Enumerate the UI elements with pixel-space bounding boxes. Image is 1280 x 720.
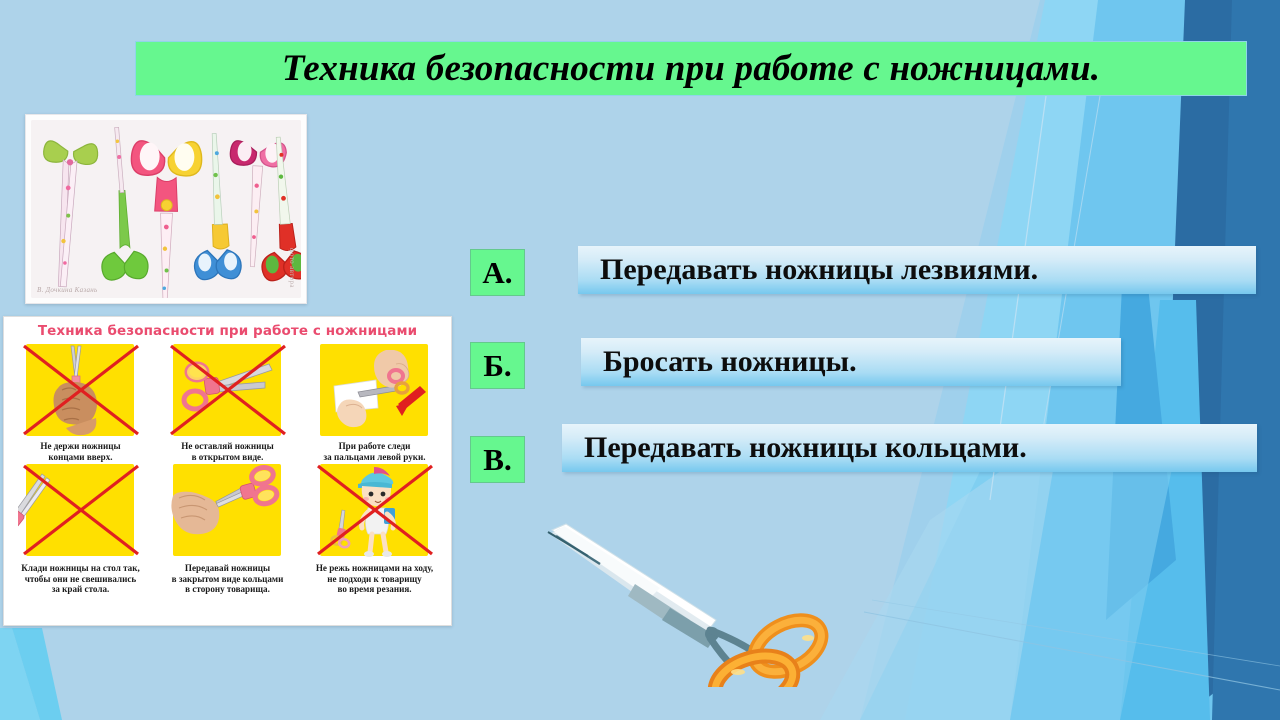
photo-watermark: В. Дочкина Казань xyxy=(37,286,98,294)
answer-option-b-text: Бросать ножницы. xyxy=(581,347,857,377)
poster-caption-1: Не держи ножницыконцами вверх. xyxy=(40,441,120,462)
answer-option-c[interactable]: Передавать ножницы кольцами. xyxy=(562,424,1257,472)
scissors-on-table-edge-icon xyxy=(18,462,144,560)
answer-option-a[interactable]: Передавать ножницы лезвиями. xyxy=(578,246,1256,294)
poster-caption-4: Клади ножницы на стол так,чтобы они не с… xyxy=(21,563,140,595)
page-title: Техника безопасности при работе с ножниц… xyxy=(282,50,1100,87)
hand-holding-scissors-up-icon xyxy=(18,342,144,440)
slide-canvas: Техника безопасности при работе с ножниц… xyxy=(0,0,1280,720)
poster-tile-2: Не оставляй ножницыв открытом виде. xyxy=(156,342,299,462)
poster-tile-5: Передавай ножницыв закрытом виде кольцам… xyxy=(156,462,299,595)
poster-tile-3: При работе следиза пальцами левой руки. xyxy=(303,342,446,462)
answer-option-b[interactable]: Бросать ножницы. xyxy=(581,338,1121,386)
answer-letter-c-label: В. xyxy=(483,444,511,475)
poster-caption-2: Не оставляй ножницыв открытом виде. xyxy=(181,441,273,462)
answer-letter-b-label: Б. xyxy=(483,350,511,381)
scissors-photo-illustration xyxy=(31,120,301,298)
cutting-paper-fingers-icon xyxy=(312,342,438,440)
slide-title-box: Техника безопасности при работе с ножниц… xyxy=(135,41,1247,96)
poster-row-bottom: Клади ножницы на стол так,чтобы они не с… xyxy=(4,462,451,595)
poster-row-top: Не держи ножницыконцами вверх. xyxy=(4,342,451,462)
open-scissors-icon xyxy=(165,342,291,440)
passing-scissors-rings-icon xyxy=(165,462,291,560)
answer-letter-a[interactable]: А. xyxy=(470,249,525,296)
poster-tile-6: Не режь ножницами на ходу,не подходи к т… xyxy=(303,462,446,595)
poster-tile-1: Не держи ножницыконцами вверх. xyxy=(9,342,152,462)
answer-option-a-text: Передавать ножницы лезвиями. xyxy=(578,255,1038,285)
answer-letter-c[interactable]: В. xyxy=(470,436,525,483)
scissors-photo-card: В. Дочкина Казань фото автора xyxy=(25,114,307,304)
poster-caption-3: При работе следиза пальцами левой руки. xyxy=(323,441,425,462)
photo-watermark-side: фото автора xyxy=(288,248,296,288)
poster-caption-5: Передавай ножницыв закрытом виде кольцам… xyxy=(172,563,284,595)
scissors-clipart-icon xyxy=(540,512,860,687)
poster-caption-6: Не режь ножницами на ходу,не подходи к т… xyxy=(316,563,433,595)
answer-letter-b[interactable]: Б. xyxy=(470,342,525,389)
scissors-photo: В. Дочкина Казань фото автора xyxy=(31,120,301,298)
poster-title: Техника безопасности при работе с ножниц… xyxy=(4,323,451,339)
answer-letter-a-label: А. xyxy=(482,257,512,288)
child-walking-with-scissors-icon xyxy=(312,462,438,560)
answer-option-c-text: Передавать ножницы кольцами. xyxy=(562,433,1027,463)
safety-rules-poster: Техника безопасности при работе с ножниц… xyxy=(3,316,452,626)
poster-tile-4: Клади ножницы на стол так,чтобы они не с… xyxy=(9,462,152,595)
